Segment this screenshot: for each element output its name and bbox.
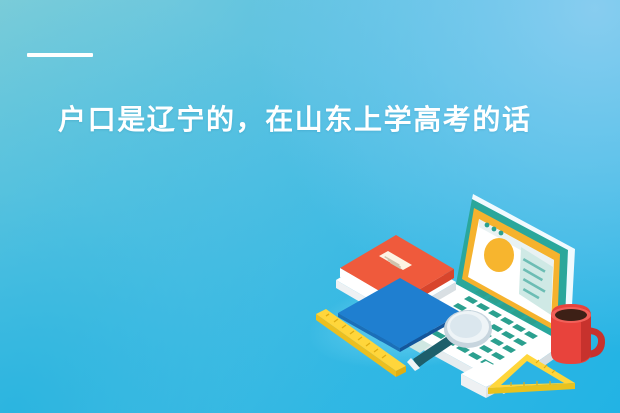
accent-rule xyxy=(27,53,93,57)
coffee-mug-icon xyxy=(551,304,605,364)
promo-banner: 户口是辽宁的，在山东上学高考的话 xyxy=(0,0,620,413)
page-title: 户口是辽宁的，在山东上学高考的话 xyxy=(58,103,588,137)
study-desk-illustration xyxy=(296,172,620,413)
